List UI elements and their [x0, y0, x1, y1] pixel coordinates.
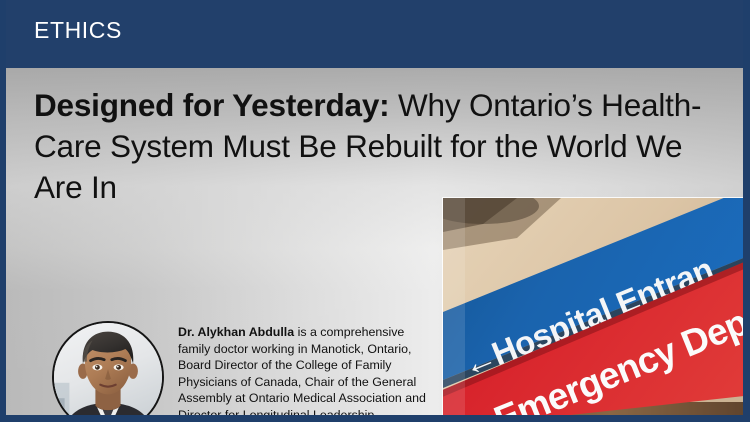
author-bio-text: is a comprehensive family doctor working…: [178, 325, 426, 422]
section-kicker: ETHICS: [34, 19, 122, 42]
avatar-portrait-icon: [54, 323, 162, 422]
author-name: Dr. Alykhan Abdulla: [178, 325, 294, 339]
hospital-sign-image: ← Hospital Entran ← Emergency Depar: [443, 198, 749, 415]
page-title-lead: Designed for Yesterday:: [34, 87, 389, 123]
header-band: ETHICS: [0, 0, 750, 68]
avatar: [52, 321, 164, 422]
slide-container: ETHICS Designed for Yesterday: Why Ontar…: [0, 0, 750, 422]
hospital-sign-photo: ← Hospital Entran ← Emergency Depar: [443, 198, 749, 415]
author-bio: Dr. Alykhan Abdulla is a comprehensive f…: [178, 324, 434, 422]
page-title: Designed for Yesterday: Why Ontario’s He…: [34, 85, 734, 208]
